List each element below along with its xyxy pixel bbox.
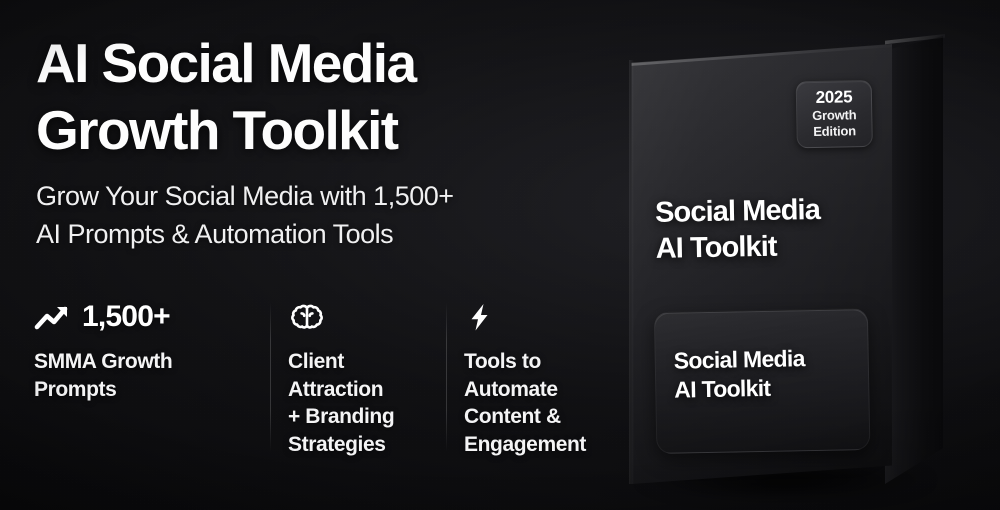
page-title: AI Social Media Growth Toolkit: [36, 30, 616, 164]
feature-item-prompts: 1,500+ SMMA Growth Prompts: [34, 296, 270, 403]
badge-year: 2025: [803, 88, 865, 108]
feature-label-line-2: Attraction: [288, 378, 383, 401]
hero-banner: AI Social Media Growth Toolkit Grow Your…: [0, 0, 1000, 510]
subheadline-line-1: Grow Your Social Media with 1,500+: [36, 181, 454, 211]
inner-panel-line-1: Social Media: [674, 345, 805, 373]
box-title-line-1: Social Media: [655, 194, 820, 229]
lightning-bolt-icon: [464, 301, 494, 333]
feature-label: Client Attraction + Branding Strategies: [288, 348, 428, 459]
feature-label-line-3: + Branding: [288, 405, 394, 428]
hero-text-block: AI Social Media Growth Toolkit Grow Your…: [36, 30, 616, 254]
badge-line-1: Growth: [803, 107, 865, 124]
feature-header: [288, 296, 428, 338]
inner-panel-line-2: AI Toolkit: [674, 372, 859, 404]
feature-label-line-1: SMMA Growth: [34, 350, 172, 373]
feature-label-line-4: Engagement: [464, 433, 586, 456]
box-inner-panel-text: Social Media AI Toolkit: [673, 343, 859, 404]
feature-label-line-1: Client: [288, 350, 344, 373]
edition-badge: 2025 Growth Edition: [796, 80, 873, 149]
feature-divider: [446, 302, 447, 452]
feature-value: 1,500+: [82, 300, 170, 334]
feature-label: SMMA Growth Prompts: [34, 348, 252, 403]
feature-label-line-2: Automate: [464, 378, 558, 401]
box-title: Social Media AI Toolkit: [655, 192, 886, 268]
box-title-line-2: AI Toolkit: [655, 228, 886, 268]
headline-line-1: AI Social Media: [36, 32, 415, 94]
feature-label-line-3: Content &: [464, 405, 561, 428]
feature-label-line-1: Tools to: [464, 350, 541, 373]
page-subtitle: Grow Your Social Media with 1,500+ AI Pr…: [36, 178, 616, 254]
feature-header: 1,500+: [34, 296, 252, 338]
feature-label-line-4: Strategies: [288, 433, 386, 456]
brain-icon: [288, 301, 326, 333]
trending-up-icon: [34, 301, 72, 333]
feature-divider: [270, 302, 271, 452]
feature-item-client-attraction: Client Attraction + Branding Strategies: [270, 296, 446, 459]
product-box: 2025 Growth Edition Social Media AI Tool…: [600, 20, 1000, 510]
box-inner-panel: Social Media AI Toolkit: [654, 308, 871, 454]
headline-line-2: Growth Toolkit: [36, 97, 616, 164]
feature-list: 1,500+ SMMA Growth Prompts: [34, 296, 652, 459]
box-content: 2025 Growth Edition Social Media AI Tool…: [626, 42, 896, 487]
feature-label-line-2: Prompts: [34, 378, 116, 401]
badge-line-2: Edition: [803, 123, 865, 140]
subheadline-line-2: AI Prompts & Automation Tools: [36, 216, 616, 254]
